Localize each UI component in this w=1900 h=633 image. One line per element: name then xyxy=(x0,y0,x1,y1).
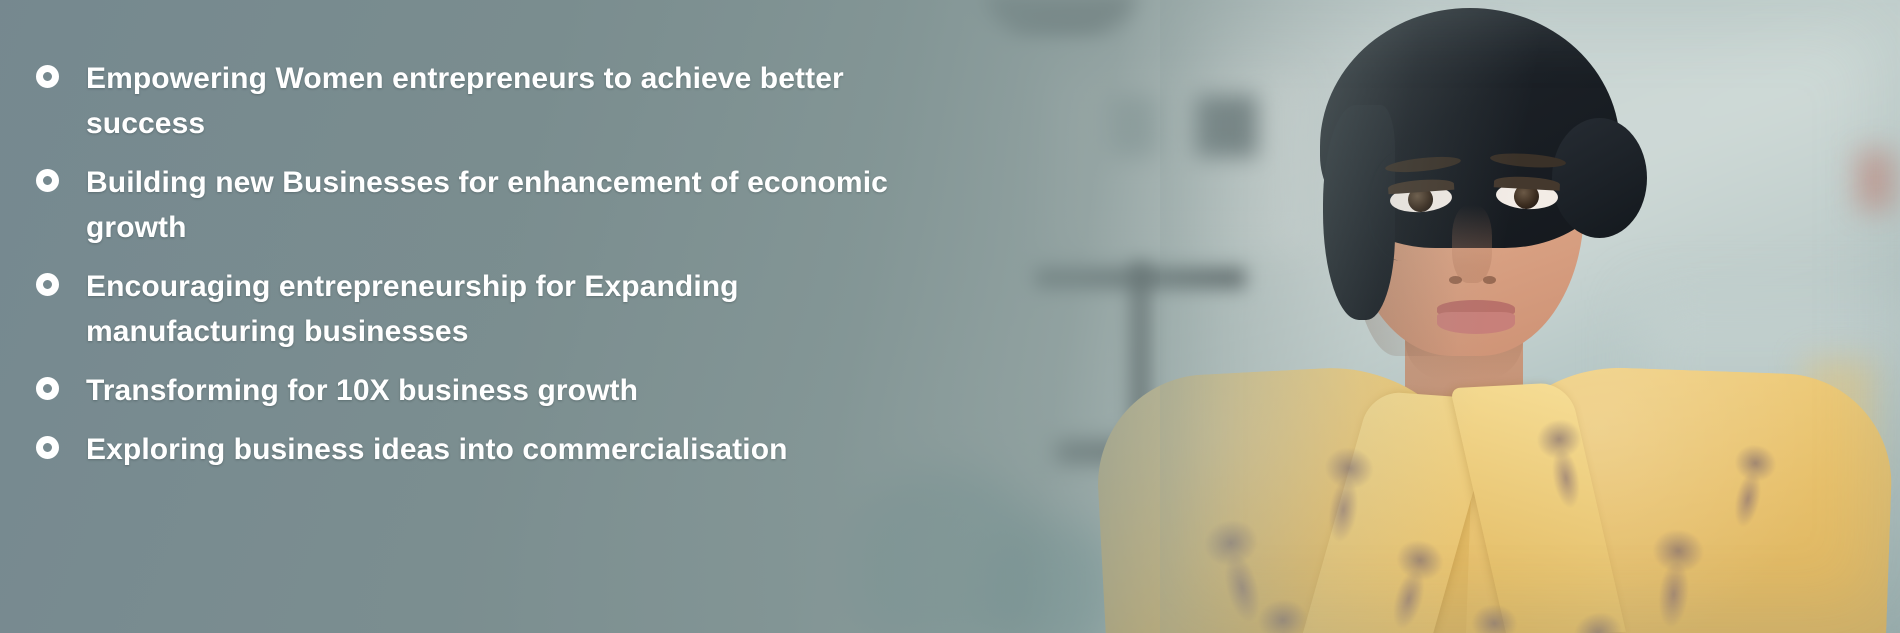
list-item: Exploring business ideas into commercial… xyxy=(36,427,1096,472)
list-item-label: Exploring business ideas into commercial… xyxy=(86,427,788,472)
list-item: Encouraging entrepreneurship for Expandi… xyxy=(36,264,1096,354)
ring-bullet-icon xyxy=(36,377,59,400)
ring-bullet-icon xyxy=(36,273,59,296)
list-item-label: Building new Businesses for enhancement … xyxy=(86,160,896,250)
ring-bullet-icon xyxy=(36,65,59,88)
benefits-list: Empowering Women entrepreneurs to achiev… xyxy=(36,56,1096,486)
ring-bullet-icon xyxy=(36,436,59,459)
list-item-label: Encouraging entrepreneurship for Expandi… xyxy=(86,264,896,354)
list-item-label: Transforming for 10X business growth xyxy=(86,368,638,413)
ring-bullet-icon xyxy=(36,169,59,192)
list-item: Transforming for 10X business growth xyxy=(36,368,1096,413)
list-item: Building new Businesses for enhancement … xyxy=(36,160,1096,250)
list-item-label: Empowering Women entrepreneurs to achiev… xyxy=(86,56,896,146)
list-item: Empowering Women entrepreneurs to achiev… xyxy=(36,56,1096,146)
promo-banner: Empowering Women entrepreneurs to achiev… xyxy=(0,0,1900,633)
